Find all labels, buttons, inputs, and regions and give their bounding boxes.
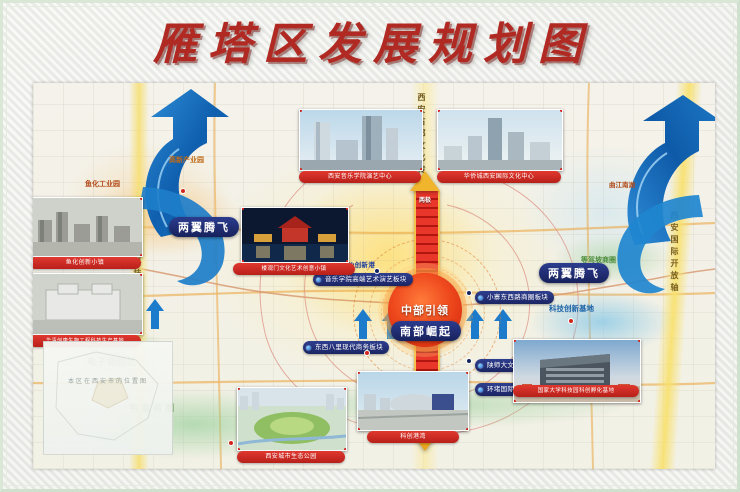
- photo-xian-conservatory[interactable]: [299, 109, 423, 171]
- south-arrow-1: [145, 299, 165, 329]
- photo-oct-culture-center[interactable]: [437, 109, 563, 171]
- pin-weiqu: [229, 441, 233, 445]
- place-gaoxin: 高新产业园: [169, 155, 204, 165]
- page-title: 雁塔区发展规划图: [3, 17, 740, 73]
- photo-innovation-port[interactable]: [357, 371, 469, 431]
- connector-dot-sw: [365, 351, 369, 355]
- place-yuhua: 鱼化工业园: [85, 179, 120, 189]
- pin-yuhua: [181, 189, 185, 193]
- place-qujiang: 曲江南湖: [609, 179, 635, 189]
- banner-wings-east[interactable]: 两翼腾飞: [539, 263, 609, 283]
- connector-dot-se: [467, 359, 471, 363]
- caption-xian-conservatory: 西安音乐学院演艺中心: [299, 171, 421, 183]
- caption-oct-culture-center: 华侨城西安国际文化中心: [437, 171, 561, 183]
- sector-dongxi-bali[interactable]: 东西八里现代商务板块: [303, 341, 389, 354]
- caption-univ-sci-park: 国家大学科技园科创孵化基地: [513, 385, 639, 397]
- photo-tangparadise[interactable]: [241, 207, 349, 263]
- photo-yuhua-town[interactable]: [33, 197, 143, 257]
- caption-eco-park: 西安城市生态公园: [237, 451, 345, 463]
- banner-south-rise[interactable]: 南部崛起: [391, 321, 461, 341]
- ribbon-fold-west: [137, 183, 247, 293]
- photo-biotech-base[interactable]: [33, 273, 143, 335]
- ribbon-fold-east: [595, 191, 705, 301]
- locator-inset-map[interactable]: 本区在西安市的位置图: [43, 341, 173, 455]
- locator-inset-label: 本区在西安市的位置图: [44, 376, 172, 385]
- place-kejichuangxin: 科技创新基地: [549, 303, 594, 314]
- caption-innovation-port: 科创港湾: [367, 431, 459, 443]
- central-hub-label: 中部引领: [401, 302, 449, 318]
- map-panel[interactable]: 西安科技创新轴 西安古都文化传承轴 西安国际开放轴: [33, 83, 715, 469]
- pin-kejichuangxin: [569, 319, 573, 323]
- caption-tangparadise: 楼观门文化艺术创意小镇: [233, 263, 355, 275]
- photo-eco-park[interactable]: [237, 387, 347, 451]
- chain-tag-top: 两极: [414, 197, 436, 205]
- caption-yuhua-town: 鱼化创新小镇: [33, 257, 141, 269]
- connector-dot-ne: [467, 291, 471, 295]
- sector-xiaozhai[interactable]: 小寨东西路商圈板块: [475, 291, 554, 304]
- poster-root: 雁塔区发展规划图: [0, 0, 740, 492]
- banner-wings-west[interactable]: 两翼腾飞: [169, 217, 239, 237]
